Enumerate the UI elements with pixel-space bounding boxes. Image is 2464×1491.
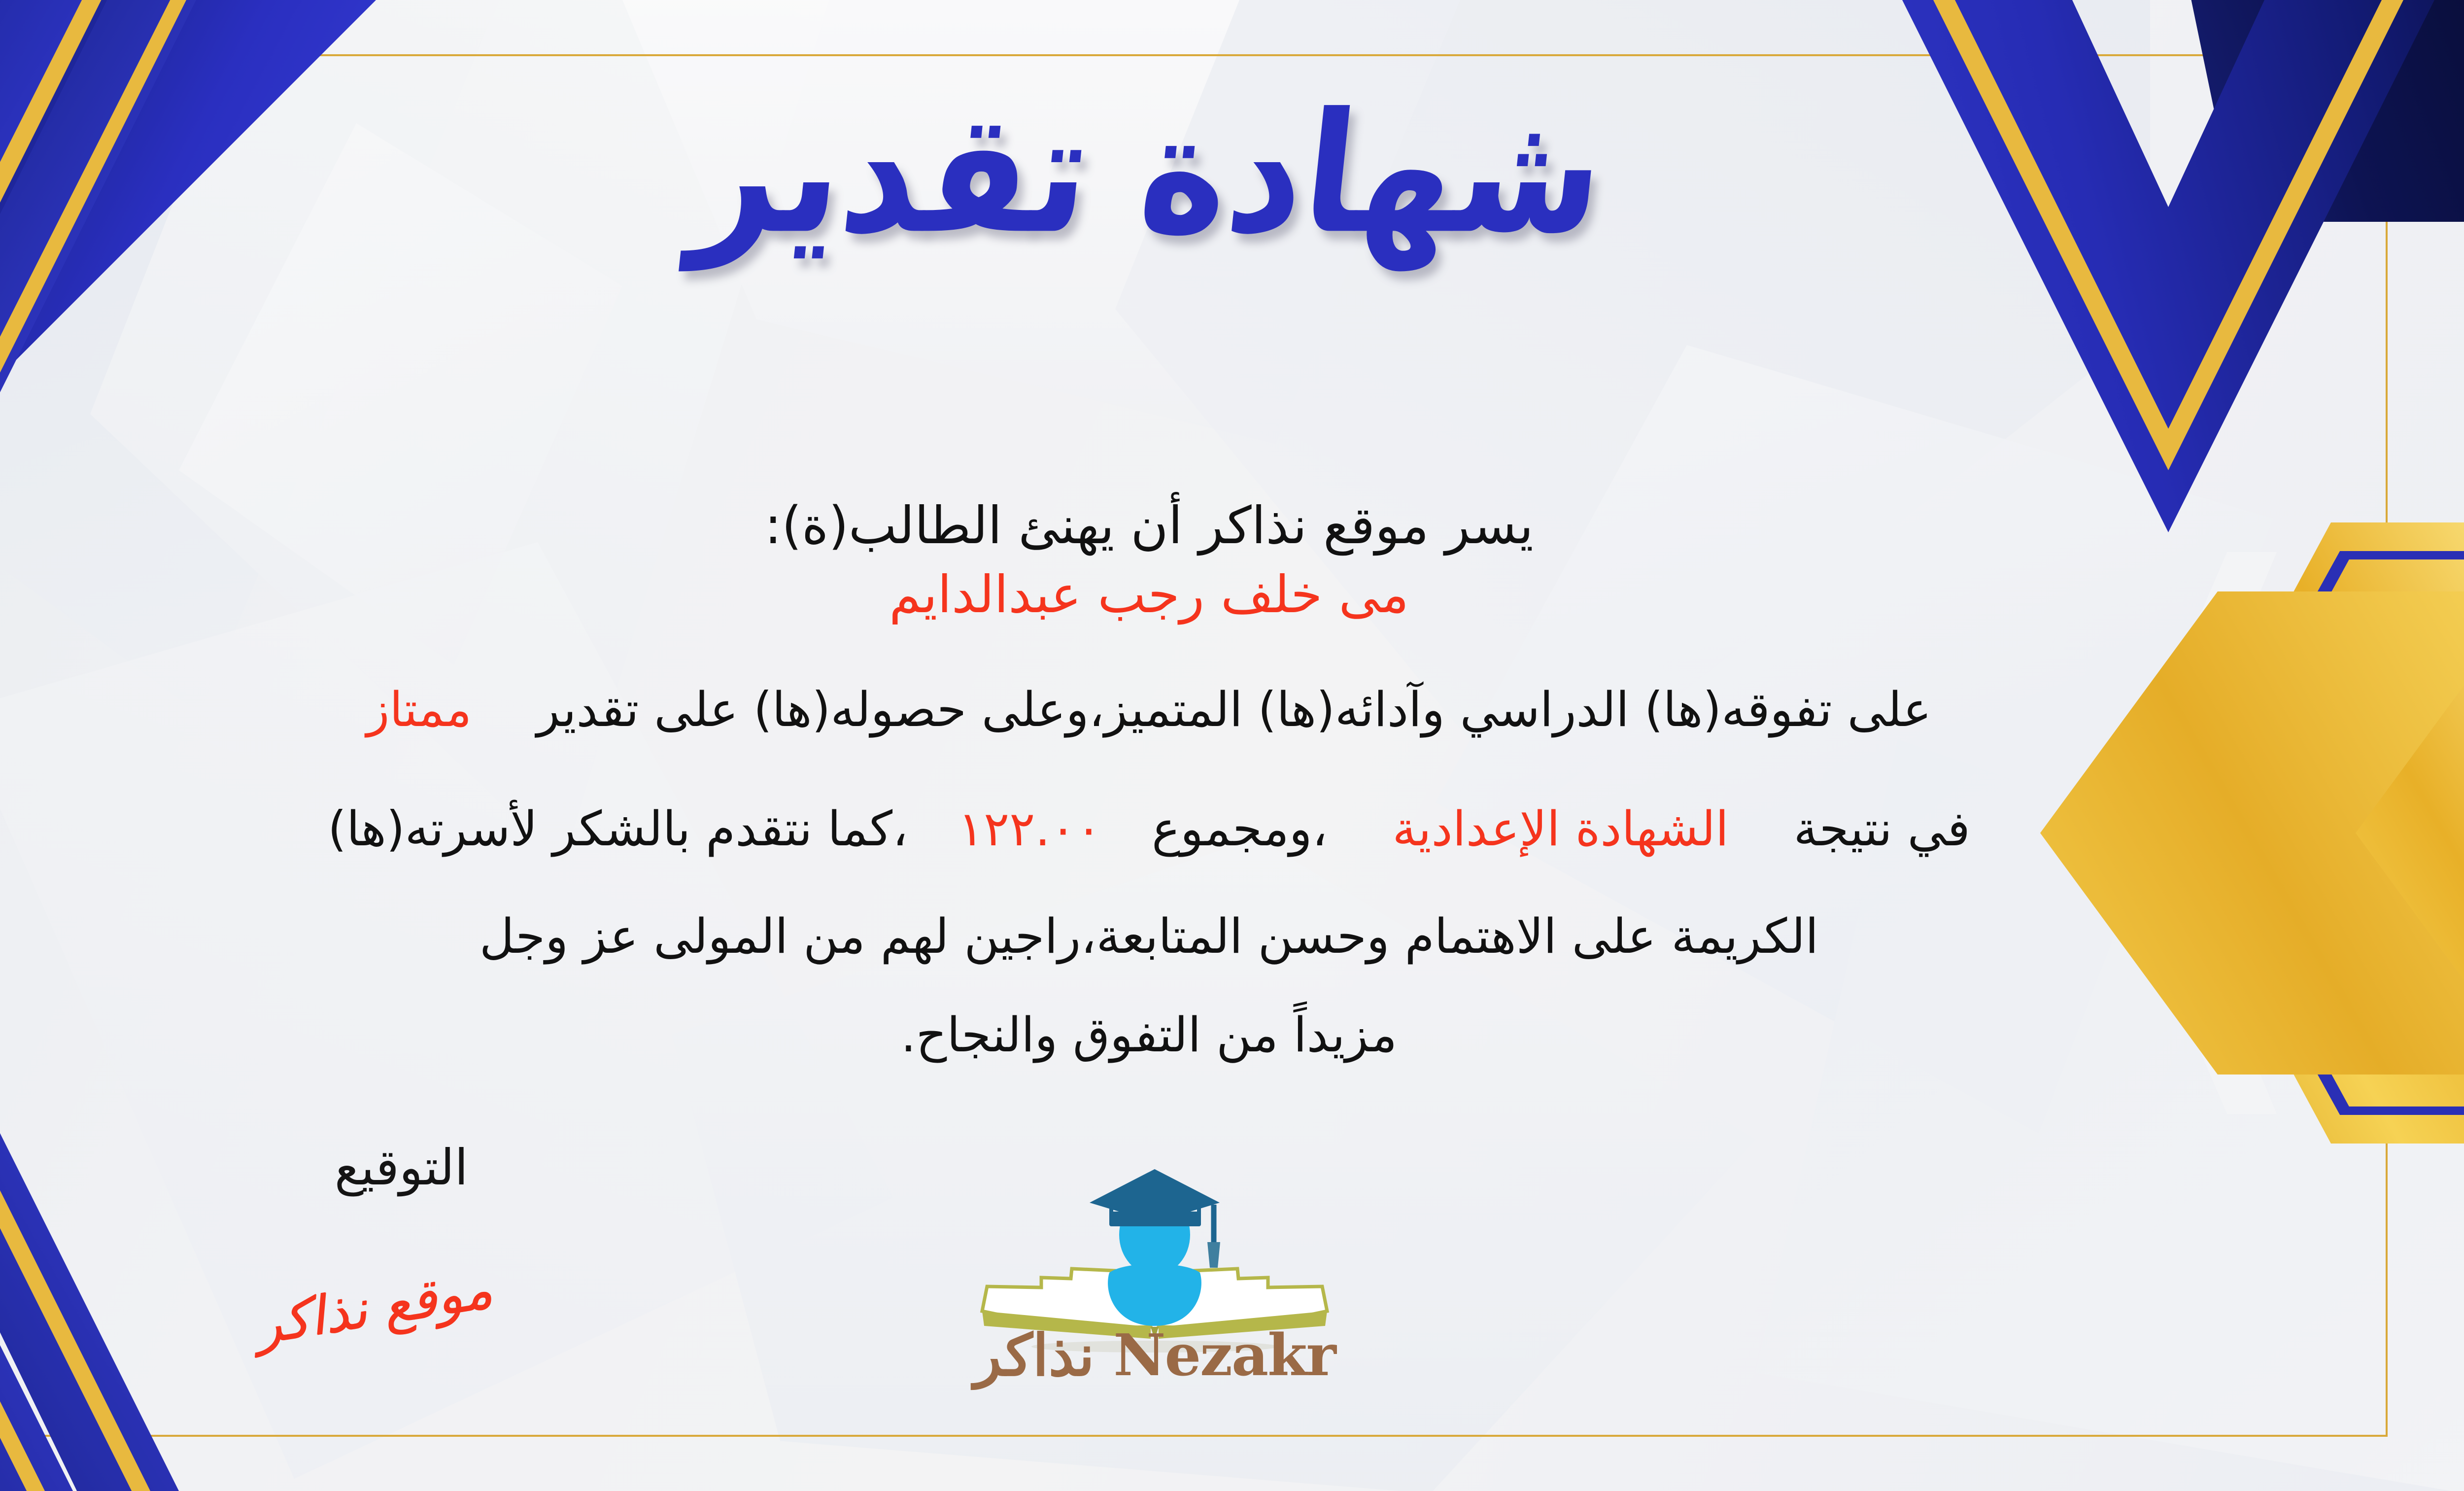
corner-ornament-bottom-left	[0, 1087, 268, 1491]
body-line-3: على تفوقه(ها) الدراسي وآدائه(ها) المتميز…	[0, 679, 2464, 740]
body-line-4-text-c: ،كما نتقدم بالشكر لأسرته(ها)	[328, 801, 908, 857]
total-score-value: ١٢٢.٠٠	[958, 801, 1101, 857]
body-line-3-text: على تفوقه(ها) الدراسي وآدائه(ها) المتميز…	[537, 682, 1931, 737]
body-line-4-text-b: ،ومجموع	[1152, 801, 1328, 857]
certificate-page: شهادة تقدير يسر موقع نذاكر أن يهنئ الطال…	[0, 0, 2464, 1491]
logo-brand-text: Nezakr نذاكر	[967, 1322, 1342, 1389]
body-line-5: الكريمة على الاهتمام وحسن المتابعة،راجين…	[0, 906, 2464, 967]
certificate-title: شهادة تقدير	[0, 78, 2464, 269]
body-line-4: في نتيجة الشهادة الإعدادية ،ومجموع ١٢٢.٠…	[0, 798, 2464, 860]
grade-value: ممتاز	[367, 682, 472, 737]
signature-label: التوقيع	[335, 1139, 468, 1196]
body-line-4-text-a: في نتيجة	[1794, 801, 1970, 857]
body-line-6: مزيداً من التفوق والنجاح.	[0, 1005, 2464, 1066]
intro-line: يسر موقع نذاكر أن يهنئ الطالب(ة):	[0, 493, 2464, 558]
cap-tassel	[1207, 1242, 1220, 1268]
site-logo: Nezakr نذاكر	[967, 1129, 1342, 1405]
student-name: مى خلف رجب عبدالدايم	[0, 562, 2464, 627]
exam-name-value: الشهادة الإعدادية	[1393, 801, 1729, 857]
